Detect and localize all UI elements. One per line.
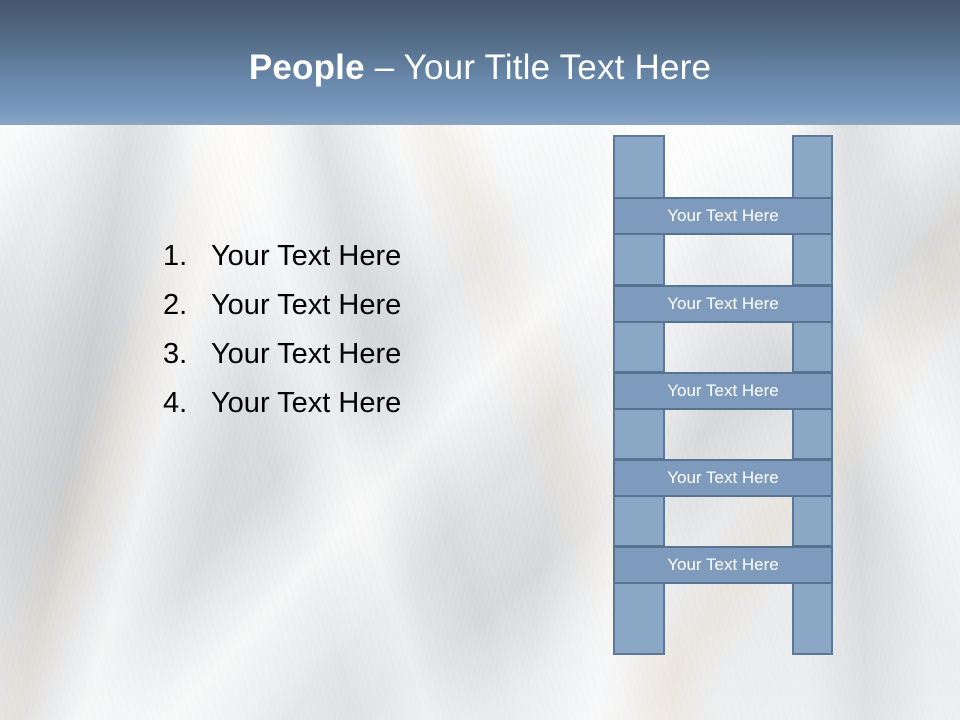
slide-canvas: People – Your Title Text Here 1. Your Te… (0, 0, 960, 720)
ladder-rung[interactable]: Your Text Here (613, 546, 833, 584)
list-item-label: Your Text Here (211, 379, 543, 428)
ladder-rung[interactable]: Your Text Here (613, 459, 833, 497)
title-separator: – (365, 48, 404, 87)
list-item-number: 3. (163, 330, 211, 379)
list-item[interactable]: 1. Your Text Here (163, 232, 543, 281)
list-item-number: 4. (163, 379, 211, 428)
ladder-rung[interactable]: Your Text Here (613, 285, 833, 323)
list-item-label: Your Text Here (211, 330, 543, 379)
list-item-number: 2. (163, 281, 211, 330)
page-title: People – Your Title Text Here (0, 48, 960, 88)
list-item[interactable]: 3. Your Text Here (163, 330, 543, 379)
ladder-diagram: Your Text Here Your Text Here Your Text … (613, 135, 833, 655)
title-regular-part: Your Title Text Here (404, 48, 712, 87)
list-item-label: Your Text Here (211, 232, 543, 281)
list-item[interactable]: 4. Your Text Here (163, 379, 543, 428)
list-item[interactable]: 2. Your Text Here (163, 281, 543, 330)
title-bold-part: People (249, 48, 365, 87)
list-item-number: 1. (163, 232, 211, 281)
list-item-label: Your Text Here (211, 281, 543, 330)
ladder-rung[interactable]: Your Text Here (613, 197, 833, 235)
numbered-list: 1. Your Text Here 2. Your Text Here 3. Y… (163, 232, 543, 428)
ladder-rung[interactable]: Your Text Here (613, 372, 833, 410)
